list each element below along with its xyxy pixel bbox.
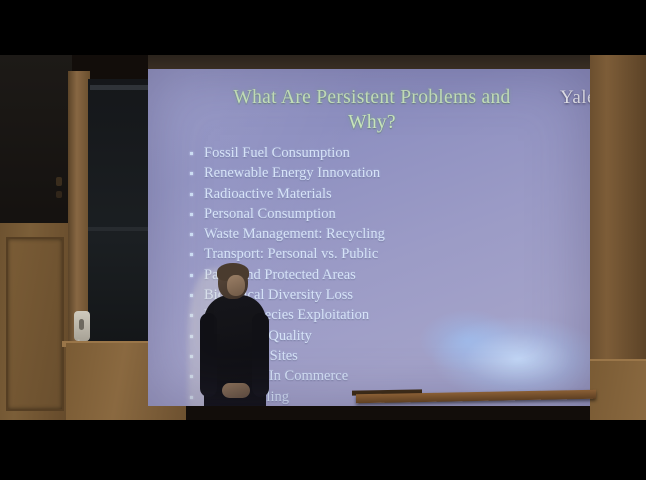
door-lock-icon[interactable] — [56, 191, 62, 198]
door-knob-icon[interactable] — [56, 177, 62, 186]
lecture-room: What Are Persistent Problems and Why? Ya… — [0, 55, 646, 420]
left-door[interactable] — [0, 223, 70, 420]
right-door-base — [590, 361, 646, 420]
video-frame: What Are Persistent Problems and Why? Ya… — [0, 0, 646, 480]
letterbox-top — [0, 0, 646, 55]
left-wall-dark-panel — [0, 55, 72, 235]
letterbox-bottom — [0, 420, 646, 480]
recess-divider — [88, 227, 150, 231]
projection-screen: What Are Persistent Problems and Why? Ya… — [148, 69, 590, 406]
left-door-panel — [6, 237, 64, 411]
wall-recess — [88, 79, 150, 369]
phone-handset-slot — [79, 319, 84, 330]
recess-top-bar — [90, 85, 148, 90]
screen-vignette — [148, 69, 590, 406]
